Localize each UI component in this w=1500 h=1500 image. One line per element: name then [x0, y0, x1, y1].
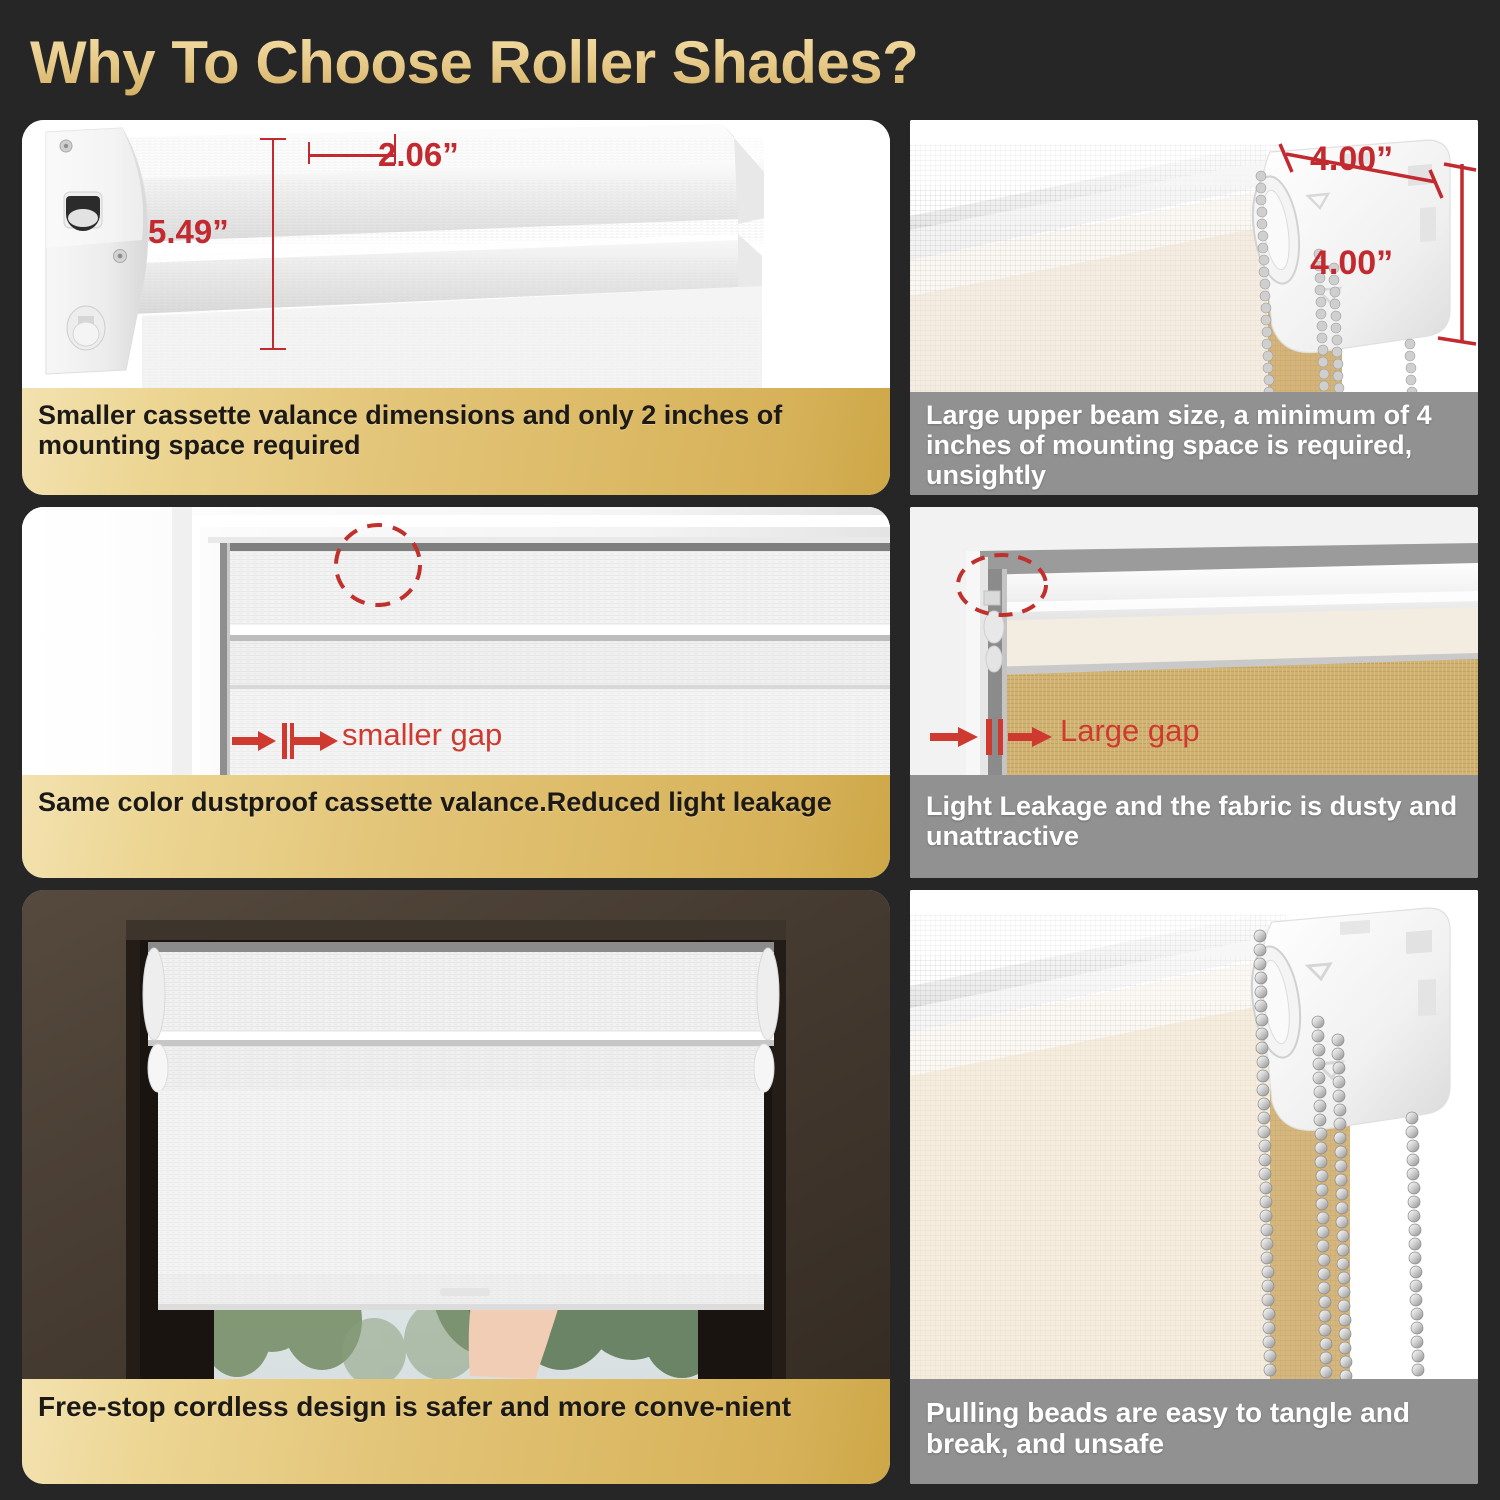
caption-text: Same color dustproof cassette valance.Re… [38, 787, 832, 817]
cassette-illustration: 5.49” 2.06” [22, 120, 890, 388]
caption-large-gap: Light Leakage and the fabric is dusty an… [910, 775, 1478, 878]
caption-text: Pulling beads are easy to tangle and bre… [926, 1397, 1462, 1460]
bead-chain-4 [1405, 339, 1417, 392]
panel-grid: 5.49” 2.06” Smaller cassette valance dim… [0, 112, 1500, 1492]
caption-text: Smaller cassette valance dimensions and … [38, 400, 874, 460]
large-gap-illustration: Large gap [910, 507, 1478, 775]
caption-pulling-beads: Pulling beads are easy to tangle and bre… [910, 1379, 1478, 1484]
caption-smaller-gap: Same color dustproof cassette valance.Re… [22, 775, 890, 878]
width-dim-tick-left [308, 142, 310, 164]
pulling-beads-illustration [910, 890, 1478, 1379]
caption-text: Light Leakage and the fabric is dusty an… [926, 791, 1462, 851]
height-dim-line [272, 138, 274, 350]
window-scene-drawing [22, 890, 890, 1379]
height-dimension-label: 5.49” [148, 213, 229, 251]
page-title: Why To Choose Roller Shades? [30, 20, 1230, 106]
height-dim-tick-top [260, 138, 286, 140]
large-gap-label: Large gap [1060, 713, 1200, 749]
bead-chain-shade-drawing [910, 890, 1478, 1379]
panel-upper-beam-dimensions: 4.00” 4.00” Large upper beam size, a min… [910, 120, 1478, 495]
panel-large-gap: Large gap Light Leakage and the fabric i… [910, 507, 1478, 878]
panel-pulling-beads: Pulling beads are easy to tangle and bre… [910, 890, 1478, 1484]
caption-upper-beam-dimensions: Large upper beam size, a minimum of 4 in… [910, 392, 1478, 495]
width-dimension-label: 2.06” [378, 136, 459, 174]
infographic-root: Why To Choose Roller Shades? [0, 0, 1500, 1500]
cordless-window-scene [22, 890, 890, 1379]
panel-cordless-window: Free-stop cordless design is safer and m… [22, 890, 890, 1484]
beam-height-dimension-label: 4.00” [1310, 244, 1393, 283]
height-dim-tick-bottom [260, 348, 286, 350]
caption-text: Free-stop cordless design is safer and m… [38, 1391, 791, 1422]
smaller-gap-label: smaller gap [342, 717, 502, 753]
caption-cassette-dimensions: Smaller cassette valance dimensions and … [22, 388, 890, 495]
upper-beam-illustration: 4.00” 4.00” [910, 120, 1478, 392]
beam-width-dimension-label: 4.00” [1310, 140, 1393, 179]
panel-smaller-gap: smaller gap Same color dustproof cassett… [22, 507, 890, 878]
caption-cordless-window: Free-stop cordless design is safer and m… [22, 1379, 890, 1484]
caption-text: Large upper beam size, a minimum of 4 in… [926, 400, 1462, 491]
smaller-gap-illustration: smaller gap [22, 507, 890, 775]
panel-cassette-dimensions: 5.49” 2.06” Smaller cassette valance dim… [22, 120, 890, 495]
